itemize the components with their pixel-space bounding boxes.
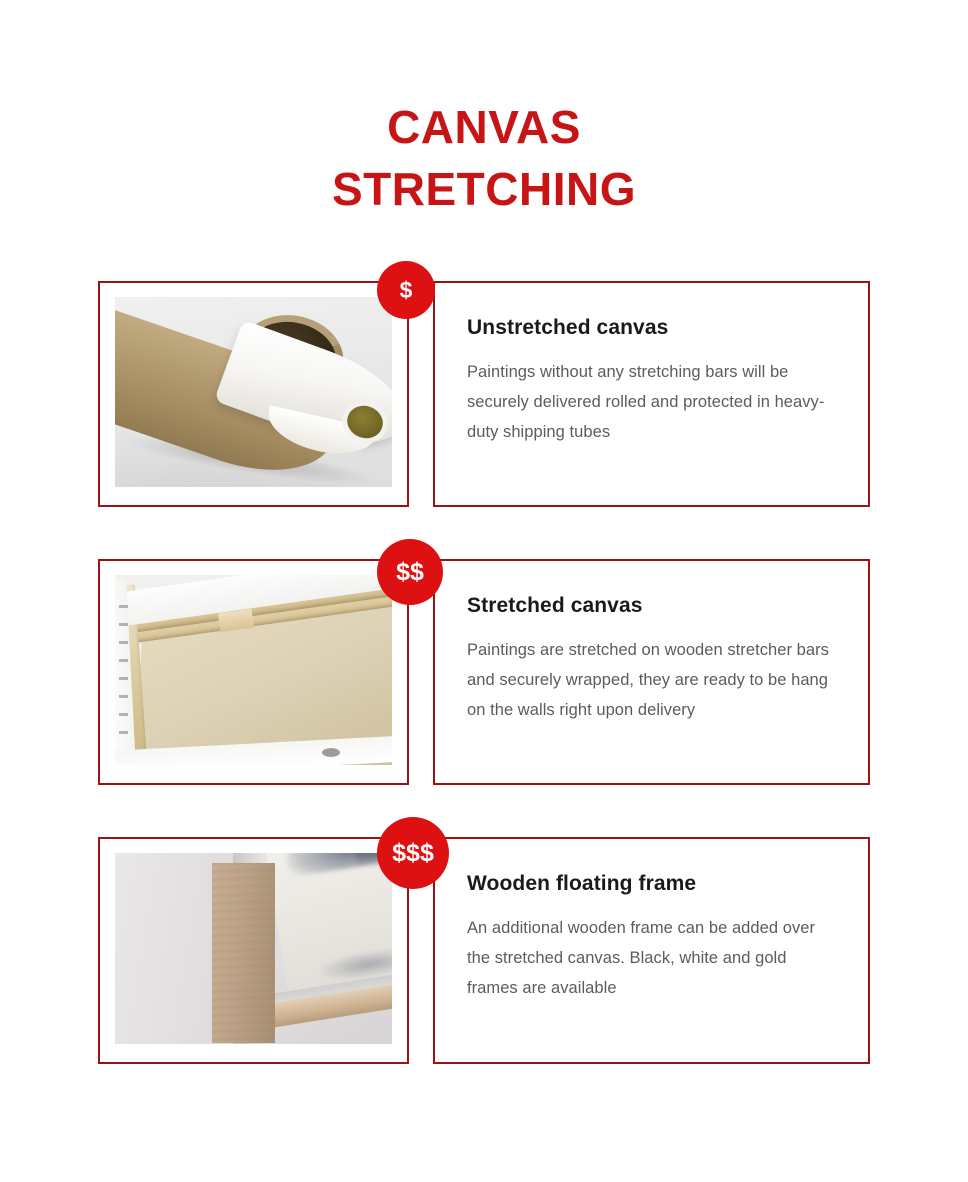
artwork-canvas — [265, 853, 392, 997]
card-title: Stretched canvas — [467, 593, 834, 619]
card-description: An additional wooden frame can be added … — [467, 913, 834, 1003]
card-description: Paintings are stretched on wooden stretc… — [467, 635, 834, 725]
page-title: CANVAS STRETCHING — [0, 96, 968, 220]
option-row-stretched-canvas: $$ Stretched canvas Paintings are stretc… — [0, 559, 968, 785]
photo-floating-frame — [115, 853, 392, 1044]
text-card-unstretched-canvas: Unstretched canvas Paintings without any… — [433, 281, 870, 507]
page-title-line-1: CANVAS — [0, 96, 968, 158]
page-title-line-2: STRETCHING — [0, 158, 968, 220]
image-card-unstretched-canvas: $ — [98, 281, 409, 507]
photo-rolled-canvas-tube — [115, 297, 392, 487]
option-row-wooden-floating-frame: $$$ Wooden floating frame An additional … — [0, 837, 968, 1064]
hardware-dot — [322, 748, 340, 757]
canvas-stretching-infographic: CANVAS STRETCHING $ Unstretched canvas — [0, 0, 968, 1182]
price-badge: $ — [377, 261, 435, 319]
price-badge: $$$ — [377, 817, 449, 889]
card-description: Paintings without any stretching bars wi… — [467, 357, 834, 447]
card-title: Unstretched canvas — [467, 315, 834, 341]
frame-side-rail — [212, 863, 275, 1043]
price-badge: $$ — [377, 539, 443, 605]
image-card-stretched-canvas: $$ — [98, 559, 409, 785]
image-card-wooden-floating-frame: $$$ — [98, 837, 409, 1064]
option-list: $ Unstretched canvas Paintings without a… — [0, 281, 968, 1064]
text-card-stretched-canvas: Stretched canvas Paintings are stretched… — [433, 559, 870, 785]
text-card-wooden-floating-frame: Wooden floating frame An additional wood… — [433, 837, 870, 1064]
staple-row — [117, 605, 131, 755]
photo-stretcher-bars — [115, 575, 392, 765]
option-row-unstretched-canvas: $ Unstretched canvas Paintings without a… — [0, 281, 968, 507]
card-title: Wooden floating frame — [467, 871, 834, 897]
